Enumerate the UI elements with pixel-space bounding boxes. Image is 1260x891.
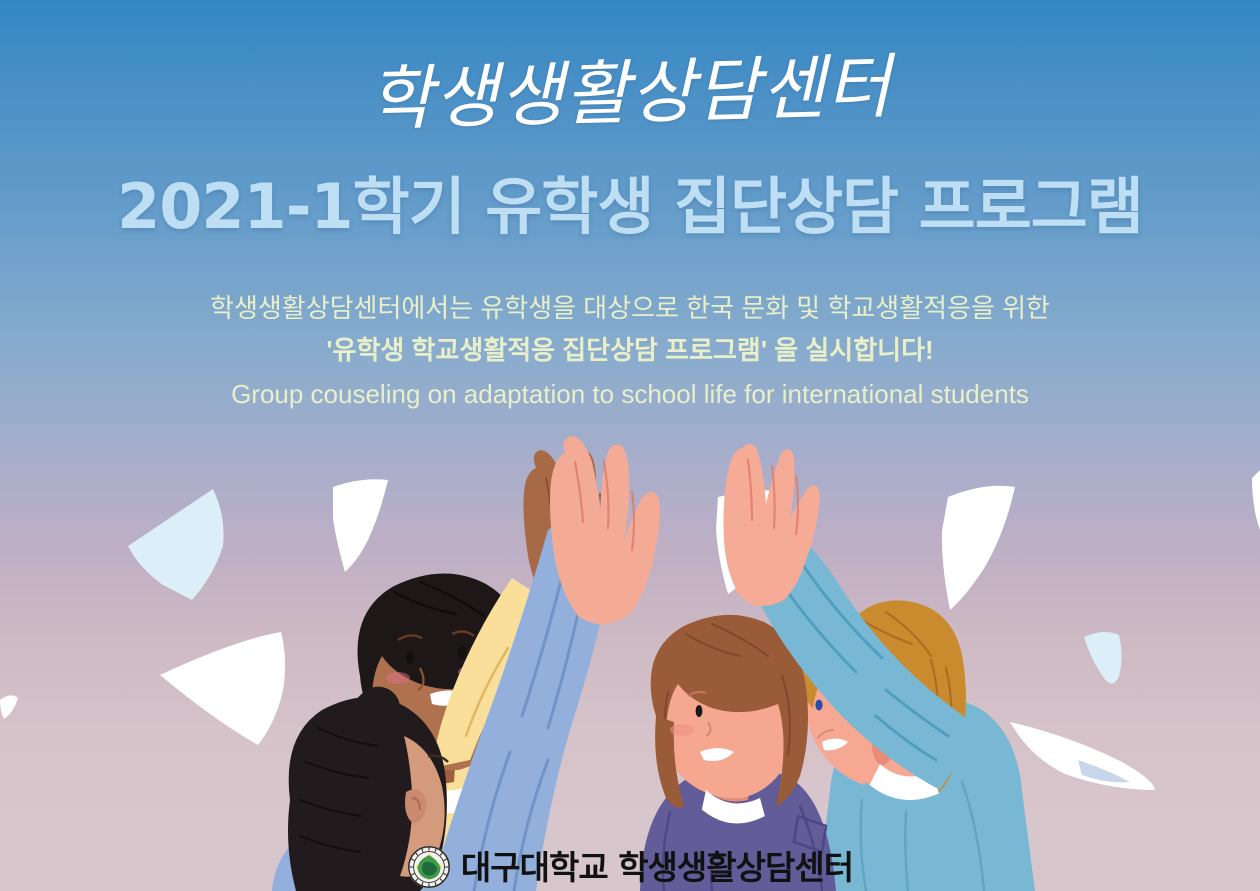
paper-top-center: [333, 479, 388, 572]
paper-far-left-edge: [0, 695, 18, 719]
purple-woman-eye: [696, 705, 703, 717]
organization-name: 대구대학교 학생생활상담센터: [461, 851, 853, 884]
daegu-university-emblem: [407, 845, 451, 889]
paper-left-upper: [128, 489, 224, 600]
paper-right-lower-shadow: [1078, 760, 1130, 782]
yellow-woman-eye-left: [406, 652, 414, 665]
paper-right-upper: [716, 490, 789, 594]
arm-blue-sleeve-center: [430, 436, 660, 891]
page-title: 2021-1학기 유학생 집단상담 프로그램: [0, 176, 1260, 238]
paper-far-right-edge: [1252, 470, 1260, 530]
paper-left-lower: [160, 632, 285, 745]
poster-canvas: 학생생활상담센터 2021-1학기 유학생 집단상담 프로그램 학생생활상담센터…: [0, 0, 1260, 891]
person-woman-yellow-shirt: [318, 450, 626, 891]
description-line-1: 학생생활상담센터에서는 유학생을 대상으로 한국 문화 및 학교생활적응을 위한: [0, 292, 1260, 325]
script-title: 학생생활상담센터: [0, 43, 1260, 144]
paper-right-lower: [1010, 722, 1155, 790]
blond-man-eye: [815, 700, 822, 711]
description-line-3-english: Group couseling on adaptation to school …: [0, 378, 1260, 411]
arm-light-blue-sleeve: [724, 444, 981, 790]
yellow-woman-eye-right: [458, 646, 466, 659]
footer: 대구대학교 학생생활상담센터: [0, 845, 1260, 889]
paper-right-small: [1084, 632, 1122, 684]
paper-right-top: [942, 486, 1015, 610]
description-line-2: '유학생 학교생활적응 집단상담 프로그램' 을 실시합니다!: [0, 334, 1260, 367]
